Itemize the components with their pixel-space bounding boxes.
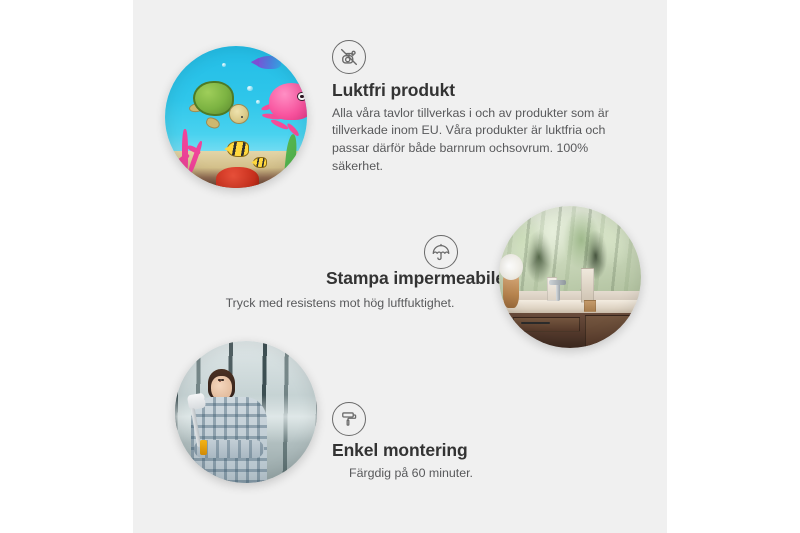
feature-body-odourless: Alla våra tavlor tillverkas i och av pro… [332, 105, 632, 175]
feature-image-easy-mounting [175, 341, 317, 483]
umbrella-icon [424, 235, 458, 269]
feature-title-easy-mounting: Enkel montering [332, 440, 632, 462]
feature-text-easy-mounting: Enkel montering Färgdig på 60 minuter. [332, 440, 632, 482]
feature-title-waterproof: Stampa impermeabile [175, 268, 505, 290]
feature-text-odourless: Luktfri produkt Alla våra tavlor tillver… [332, 80, 632, 175]
feature-text-waterproof: Stampa impermeabile Tryck med resistens … [175, 268, 505, 312]
paint-roller-icon [332, 402, 366, 436]
feature-title-odourless: Luktfri produkt [332, 80, 632, 102]
feature-body-easy-mounting: Färgdig på 60 minuter. [332, 465, 490, 483]
no-smell-spray-bottle-icon [332, 40, 366, 74]
content-panel: Luktfri produkt Alla våra tavlor tillver… [133, 0, 667, 533]
feature-image-waterproof [499, 206, 641, 348]
feature-body-waterproof: Tryck med resistens mot hög luftfuktighe… [175, 295, 505, 313]
screenshot-canvas: Luktfri produkt Alla våra tavlor tillver… [0, 0, 800, 533]
feature-image-odourless [165, 46, 307, 188]
